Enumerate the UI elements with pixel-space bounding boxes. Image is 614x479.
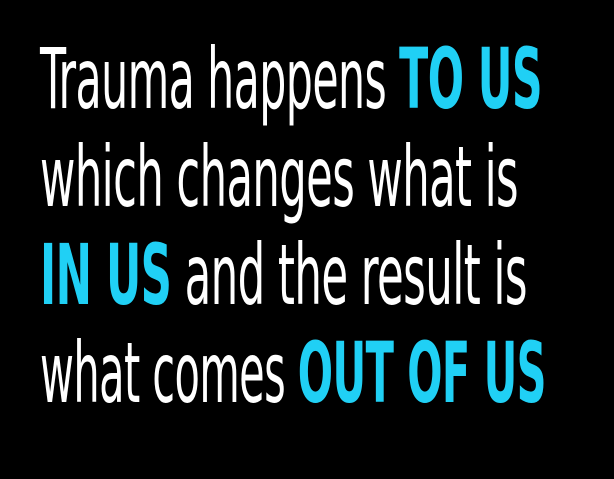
quote-line-3-segment-accent: IN US xyxy=(40,226,171,324)
quote-line-3-segment-white: and the result is xyxy=(171,226,527,324)
quote-line-1-segment-accent: TO US xyxy=(399,30,542,128)
quote-image-canvas: Trauma happens TO US which changes what … xyxy=(0,0,614,479)
quote-line-2-segment-white: which changes what is xyxy=(40,128,518,226)
quote-line-4-inner: what comes OUT OF US xyxy=(40,324,546,422)
quote-line-1: Trauma happens TO US xyxy=(40,30,580,128)
quote-line-3: IN US and the result is xyxy=(40,226,580,324)
quote-line-3-inner: IN US and the result is xyxy=(40,226,527,324)
quote-line-2: which changes what is xyxy=(40,128,580,226)
quote-text-block: Trauma happens TO US which changes what … xyxy=(40,30,580,422)
quote-line-4-segment-white: what comes xyxy=(40,324,298,422)
quote-line-1-inner: Trauma happens TO US xyxy=(40,30,542,128)
quote-line-4: what comes OUT OF US xyxy=(40,324,580,422)
quote-line-1-segment-white: Trauma happens xyxy=(40,30,399,128)
quote-line-2-inner: which changes what is xyxy=(40,128,518,226)
quote-line-4-segment-accent: OUT OF US xyxy=(298,324,546,422)
